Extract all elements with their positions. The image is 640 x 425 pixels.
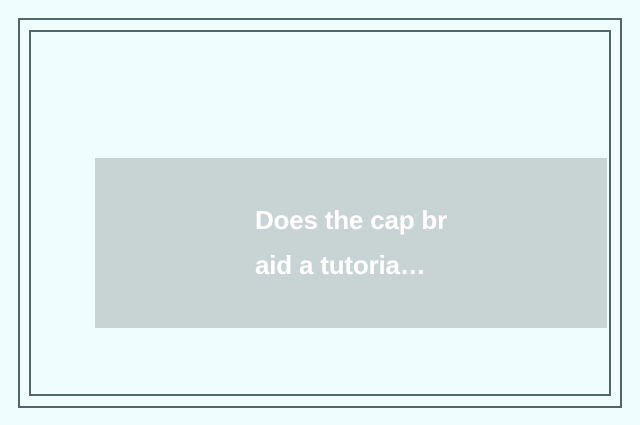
thumbnail-title-text: Does the cap br aid a tutoria…: [255, 198, 447, 288]
screenshot-canvas: Does the cap br aid a tutoria…: [0, 0, 640, 425]
thumbnail-placeholder-panel[interactable]: Does the cap br aid a tutoria…: [95, 158, 607, 328]
inner-border-frame: Does the cap br aid a tutoria…: [29, 30, 611, 396]
